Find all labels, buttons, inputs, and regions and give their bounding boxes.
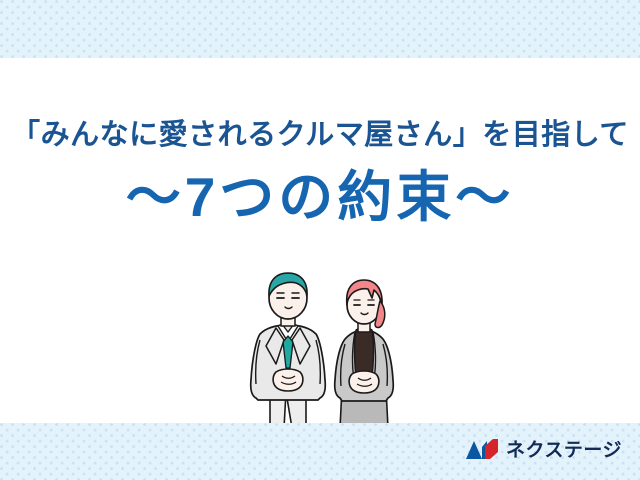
- headline-block: 「みんなに愛されるクルマ屋さん」を目指して 〜7つの約束〜: [0, 118, 640, 228]
- nextage-n-mark-icon: [465, 438, 499, 462]
- n-mark-blue-part: [466, 441, 487, 459]
- female-staff-figure: [335, 280, 394, 428]
- nextage-logo-text: ネクステージ: [506, 441, 622, 460]
- male-clasped-hands: [273, 369, 303, 391]
- headline-primary-text: 「みんなに愛されるクルマ屋さん」を目指して: [0, 118, 640, 153]
- nextage-logo: ネクステージ: [465, 438, 622, 462]
- headline-secondary-text: 〜7つの約束〜: [0, 167, 640, 229]
- staff-bowing-illustration: [236, 268, 416, 433]
- staff-illustration-svg: [236, 268, 416, 433]
- male-staff-figure: [251, 273, 326, 428]
- top-dot-band: [0, 0, 640, 58]
- promise-banner: 「みんなに愛されるクルマ屋さん」を目指して 〜7つの約束〜: [0, 0, 640, 480]
- female-inner-top: [355, 328, 374, 376]
- female-clasped-hands: [349, 371, 379, 393]
